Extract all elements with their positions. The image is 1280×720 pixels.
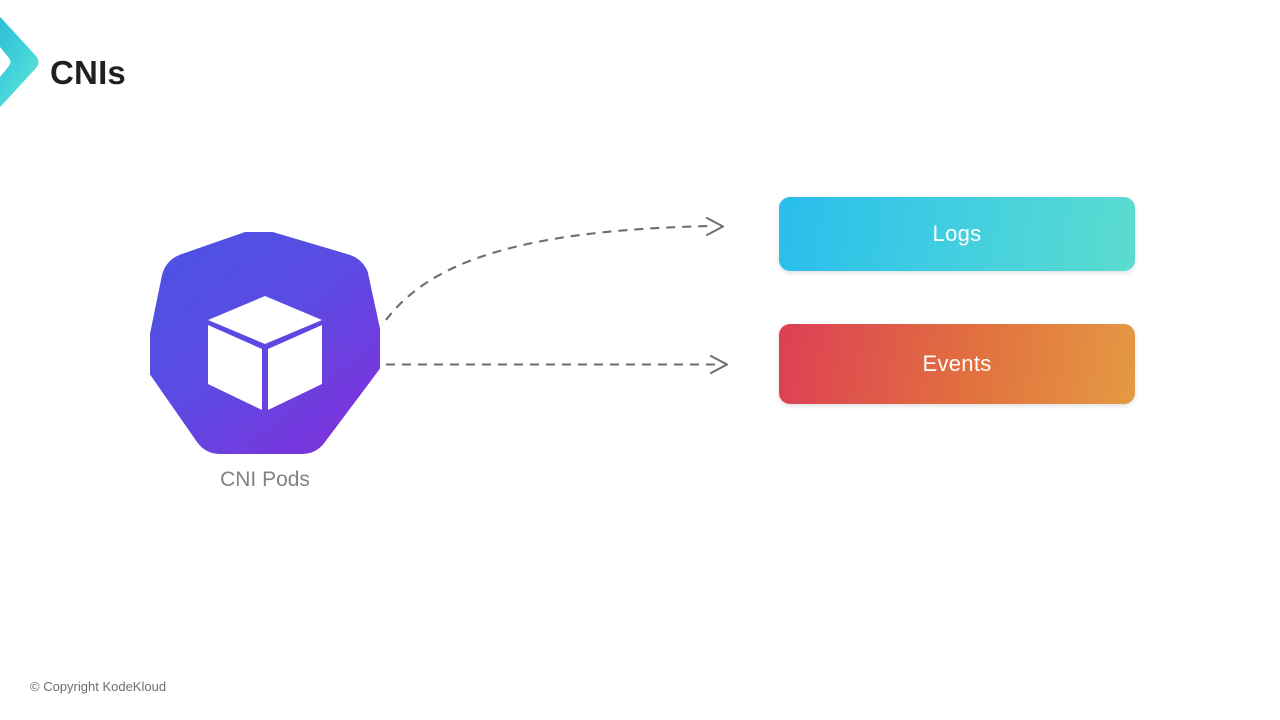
kubernetes-pod-cube-icon	[150, 232, 380, 454]
slide-canvas: CNIs	[0, 0, 1280, 720]
cni-pods-label: CNI Pods	[150, 468, 380, 492]
connector-pods-to-logs-arrowhead	[707, 218, 723, 235]
destination-label-logs: Logs	[933, 221, 982, 247]
destination-box-logs[interactable]: Logs	[779, 197, 1135, 271]
chevron-right-shape	[0, 14, 38, 110]
destination-box-events[interactable]: Events	[779, 324, 1135, 404]
cni-pods-node[interactable]: CNI Pods	[150, 232, 380, 512]
chevron-right-icon	[0, 8, 42, 116]
connector-pods-to-logs	[386, 218, 723, 320]
destination-label-events: Events	[922, 351, 991, 377]
page-title: CNIs	[50, 54, 126, 92]
connector-pods-to-events	[386, 356, 727, 373]
copyright-text: © Copyright KodeKloud	[30, 679, 166, 694]
connector-pods-to-logs-line	[386, 226, 712, 320]
connector-pods-to-events-arrowhead	[711, 356, 727, 373]
